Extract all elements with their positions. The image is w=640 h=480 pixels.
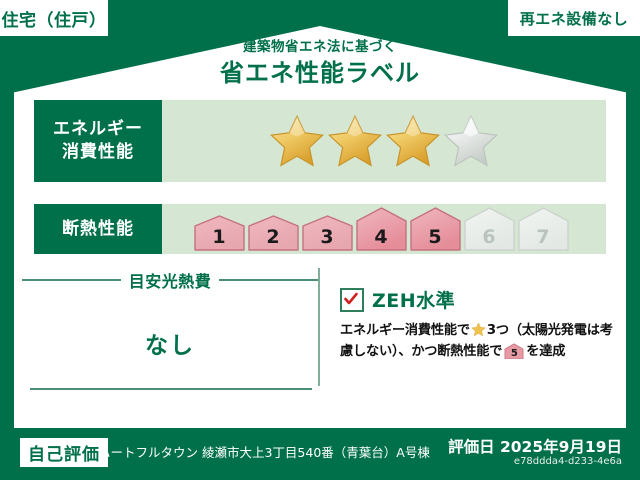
house-level-filled: 2 <box>248 215 299 251</box>
energy-performance-label-line2: 消費性能 <box>62 141 134 164</box>
utility-cost-block: 目安光熱費 なし <box>22 262 318 410</box>
insulation-performance-label: 断熱性能 <box>34 204 162 254</box>
house-icon-inline-number: 5 <box>504 349 524 359</box>
house-level-filled: 3 <box>302 215 353 251</box>
house-icon-inline: 5 <box>504 343 524 359</box>
star-rating <box>269 113 499 169</box>
title-subtitle: 建築物省エネ法に基づく <box>0 38 640 57</box>
house-level-number: 7 <box>518 226 569 248</box>
check-icon <box>343 291 359 307</box>
energy-performance-label-line1: エネルギー <box>53 118 143 141</box>
insulation-performance-row: 断熱性能 1234567 <box>34 204 606 254</box>
zeh-description: エネルギー消費性能で 3つ（太陽光発電は考慮しない）、かつ断熱性能で 5 を達成 <box>340 320 618 363</box>
house-level-number: 6 <box>464 226 515 248</box>
zeh-block: ZEH水準 エネルギー消費性能で 3つ（太陽光発電は考慮しない）、かつ断熱性能で… <box>318 262 618 410</box>
evaluation-id: e78ddda4-d233-4e6a <box>514 456 622 467</box>
house-level-number: 4 <box>356 226 407 248</box>
evaluation-date: 評価日 2025年9月19日 <box>448 435 622 457</box>
energy-performance-value <box>162 100 606 182</box>
house-level-filled: 1 <box>194 215 245 251</box>
footer: 自己評価 ハートフルタウン 綾瀬市大上3丁目540番（青葉台）A号棟 評価日 2… <box>0 432 640 480</box>
house-level-empty: 6 <box>464 207 515 251</box>
badge-renewable-energy: 再エネ設備なし <box>508 0 640 36</box>
zeh-title: ZEH水準 <box>372 286 455 313</box>
energy-performance-label: エネルギー 消費性能 <box>34 100 162 182</box>
star-icon-filled <box>269 113 325 169</box>
house-level-filled: 5 <box>410 207 461 251</box>
badge-building-type: 住宅（住戸） <box>0 0 108 36</box>
energy-performance-row: エネルギー 消費性能 <box>34 100 606 182</box>
star-icon-filled <box>327 113 383 169</box>
house-level-number: 5 <box>410 226 461 248</box>
house-level-empty: 7 <box>518 207 569 251</box>
title-block: 建築物省エネ法に基づく 省エネ性能ラベル <box>0 38 640 89</box>
star-icon-empty <box>443 113 499 169</box>
lower-section: 目安光熱費 なし ZEH水準 エネルギー消費性能で 3つ（太陽光発電は考 <box>22 262 618 410</box>
zeh-checkbox[interactable] <box>340 288 364 312</box>
zeh-desc-part1: エネルギー消費性能で <box>340 323 470 338</box>
heading-rule-left <box>22 279 121 281</box>
insulation-performance-label-text: 断熱性能 <box>62 218 134 241</box>
property-address: ハートフルタウン 綾瀬市大上3丁目540番（青葉台）A号棟 <box>98 442 430 461</box>
page-title: 省エネ性能ラベル <box>0 57 640 89</box>
utility-cost-bottom-rule <box>30 388 312 390</box>
house-level-filled: 4 <box>356 207 407 251</box>
zeh-desc-part3: を達成 <box>526 344 565 359</box>
heading-rule-right <box>219 279 318 281</box>
self-evaluation-badge: 自己評価 <box>20 438 108 467</box>
insulation-performance-value: 1234567 <box>162 204 606 254</box>
star-icon-filled <box>385 113 441 169</box>
house-level-number: 1 <box>194 226 245 248</box>
zeh-heading-row: ZEH水準 <box>340 262 618 313</box>
house-level-number: 2 <box>248 226 299 248</box>
star-icon-inline <box>471 322 486 337</box>
house-rating-scale: 1234567 <box>194 207 575 251</box>
utility-cost-heading: 目安光熱費 <box>129 268 212 292</box>
utility-cost-heading-row: 目安光熱費 <box>22 262 318 292</box>
house-level-number: 3 <box>302 226 353 248</box>
utility-cost-value: なし <box>22 326 318 360</box>
energy-label-root: 住宅（住戸） 再エネ設備なし 建築物省エネ法に基づく 省エネ性能ラベル エネルギ… <box>0 0 640 480</box>
